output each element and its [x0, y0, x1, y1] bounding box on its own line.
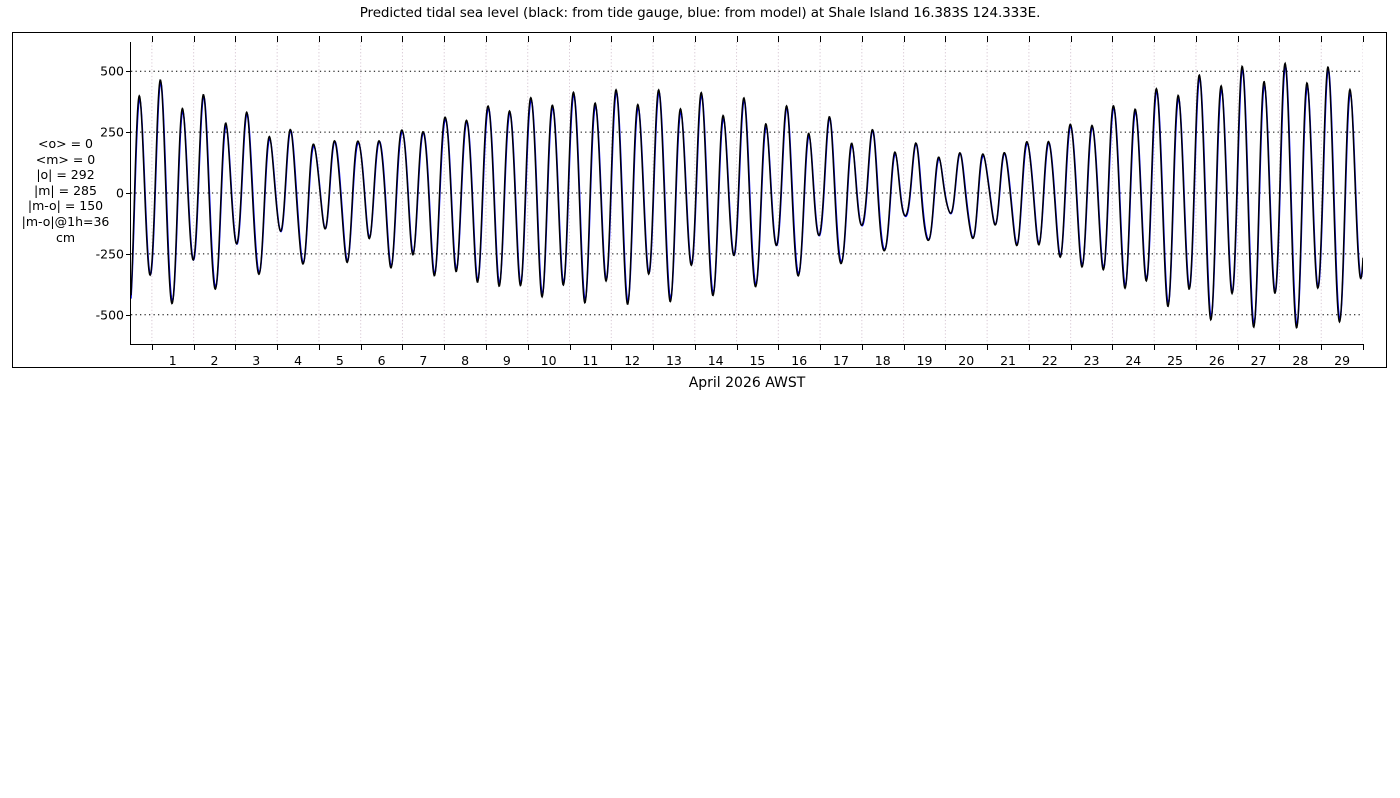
x-tick-mark — [1238, 344, 1239, 350]
x-tick-label: 5 — [336, 353, 344, 368]
x-tick-label: 26 — [1209, 353, 1225, 368]
y-tick-mark — [126, 132, 131, 133]
x-tick-label: 4 — [294, 353, 302, 368]
x-tick-label: 24 — [1125, 353, 1141, 368]
x-tick-label: 11 — [582, 353, 598, 368]
x-tick-mark-top — [778, 36, 779, 42]
tidal-chart-figure: Predicted tidal sea level (black: from t… — [0, 0, 1400, 400]
x-tick-mark — [1112, 344, 1113, 350]
x-tick-label: 16 — [791, 353, 807, 368]
x-tick-mark-top — [361, 36, 362, 42]
x-tick-mark-top — [319, 36, 320, 42]
x-tick-label: 18 — [875, 353, 891, 368]
x-tick-mark-top — [820, 36, 821, 42]
x-tick-label: 15 — [749, 353, 765, 368]
x-tick-label: 25 — [1167, 353, 1183, 368]
x-tick-label: 17 — [833, 353, 849, 368]
x-tick-mark — [945, 344, 946, 350]
y-tick-mark — [126, 315, 131, 316]
x-tick-mark — [361, 344, 362, 350]
statistics-block: <o> = 0 <m> = 0 |o| = 292 |m| = 285 |m-o… — [0, 136, 131, 245]
x-tick-mark — [1321, 344, 1322, 350]
tide-series-svg — [131, 42, 1363, 344]
x-tick-mark — [987, 344, 988, 350]
x-tick-label: 13 — [666, 353, 682, 368]
series-model-line — [131, 66, 1363, 324]
x-tick-mark-top — [1363, 36, 1364, 42]
x-tick-label: 27 — [1251, 353, 1267, 368]
plot-area: 5002500-250-500 123456789101112131415161… — [130, 42, 1363, 345]
x-tick-mark — [1029, 344, 1030, 350]
y-tick-mark — [126, 193, 131, 194]
y-tick-mark — [126, 254, 131, 255]
x-tick-mark — [1196, 344, 1197, 350]
x-tick-mark-top — [1029, 36, 1030, 42]
x-tick-label: 3 — [252, 353, 260, 368]
x-tick-mark-top — [1154, 36, 1155, 42]
x-tick-label: 28 — [1292, 353, 1308, 368]
x-tick-label: 29 — [1334, 353, 1350, 368]
x-tick-mark — [235, 344, 236, 350]
x-tick-label: 20 — [958, 353, 974, 368]
x-tick-mark-top — [528, 36, 529, 42]
x-tick-mark — [444, 344, 445, 350]
x-tick-mark — [1154, 344, 1155, 350]
x-tick-label: 22 — [1042, 353, 1058, 368]
x-tick-mark-top — [194, 36, 195, 42]
x-tick-mark — [1071, 344, 1072, 350]
x-tick-mark — [319, 344, 320, 350]
x-tick-mark-top — [570, 36, 571, 42]
x-tick-mark-top — [695, 36, 696, 42]
x-tick-mark-top — [152, 36, 153, 42]
y-tick-label: -250 — [96, 246, 124, 261]
x-tick-mark — [695, 344, 696, 350]
x-tick-mark — [570, 344, 571, 350]
x-tick-mark-top — [987, 36, 988, 42]
x-tick-mark — [402, 344, 403, 350]
x-tick-mark-top — [1071, 36, 1072, 42]
x-axis-title: April 2026 AWST — [689, 375, 806, 391]
x-tick-mark — [528, 344, 529, 350]
x-tick-mark-top — [737, 36, 738, 42]
horizontal-gridlines — [131, 71, 1363, 315]
x-tick-label: 9 — [503, 353, 511, 368]
x-tick-mark-top — [235, 36, 236, 42]
stat-units: cm — [0, 230, 131, 246]
x-tick-mark — [820, 344, 821, 350]
chart-title: Predicted tidal sea level (black: from t… — [0, 5, 1400, 21]
x-tick-label: 7 — [419, 353, 427, 368]
stat-rms-model: |m| = 285 — [0, 183, 131, 199]
y-tick-label: -500 — [96, 307, 124, 322]
x-tick-mark — [1279, 344, 1280, 350]
x-tick-mark — [486, 344, 487, 350]
x-tick-mark-top — [945, 36, 946, 42]
stat-rms-observed: |o| = 292 — [0, 167, 131, 183]
x-tick-mark-top — [1279, 36, 1280, 42]
x-tick-label: 6 — [378, 353, 386, 368]
x-tick-mark-top — [277, 36, 278, 42]
x-tick-label: 21 — [1000, 353, 1016, 368]
x-tick-mark — [862, 344, 863, 350]
stat-rms-difference: |m-o| = 150 — [0, 198, 131, 214]
x-tick-mark-top — [862, 36, 863, 42]
x-tick-label: 8 — [461, 353, 469, 368]
stat-mean-model: <m> = 0 — [0, 152, 131, 168]
x-tick-mark — [653, 344, 654, 350]
x-tick-label: 10 — [541, 353, 557, 368]
x-tick-mark — [1363, 344, 1364, 350]
x-tick-mark — [277, 344, 278, 350]
x-tick-mark — [778, 344, 779, 350]
x-tick-mark — [611, 344, 612, 350]
x-tick-mark-top — [611, 36, 612, 42]
x-tick-label: 2 — [211, 353, 219, 368]
x-tick-mark-top — [1238, 36, 1239, 42]
y-tick-label: 0 — [116, 186, 124, 201]
x-tick-mark-top — [904, 36, 905, 42]
y-tick-label: 500 — [100, 64, 124, 79]
x-tick-mark — [904, 344, 905, 350]
x-tick-mark-top — [444, 36, 445, 42]
x-tick-mark-top — [1112, 36, 1113, 42]
y-tick-mark — [126, 71, 131, 72]
y-tick-label: 250 — [100, 125, 124, 140]
x-tick-label: 12 — [624, 353, 640, 368]
x-tick-label: 1 — [169, 353, 177, 368]
x-tick-mark-top — [486, 36, 487, 42]
x-tick-mark — [152, 344, 153, 350]
x-tick-mark — [194, 344, 195, 350]
x-tick-label: 19 — [917, 353, 933, 368]
x-tick-mark — [737, 344, 738, 350]
x-tick-mark-top — [1196, 36, 1197, 42]
x-tick-mark-top — [653, 36, 654, 42]
x-tick-mark-top — [402, 36, 403, 42]
stat-rms-diff-1h: |m-o|@1h=36 — [0, 214, 131, 230]
plot-clip — [131, 42, 1363, 344]
x-tick-label: 23 — [1084, 353, 1100, 368]
x-tick-mark-top — [1321, 36, 1322, 42]
x-tick-label: 14 — [708, 353, 724, 368]
